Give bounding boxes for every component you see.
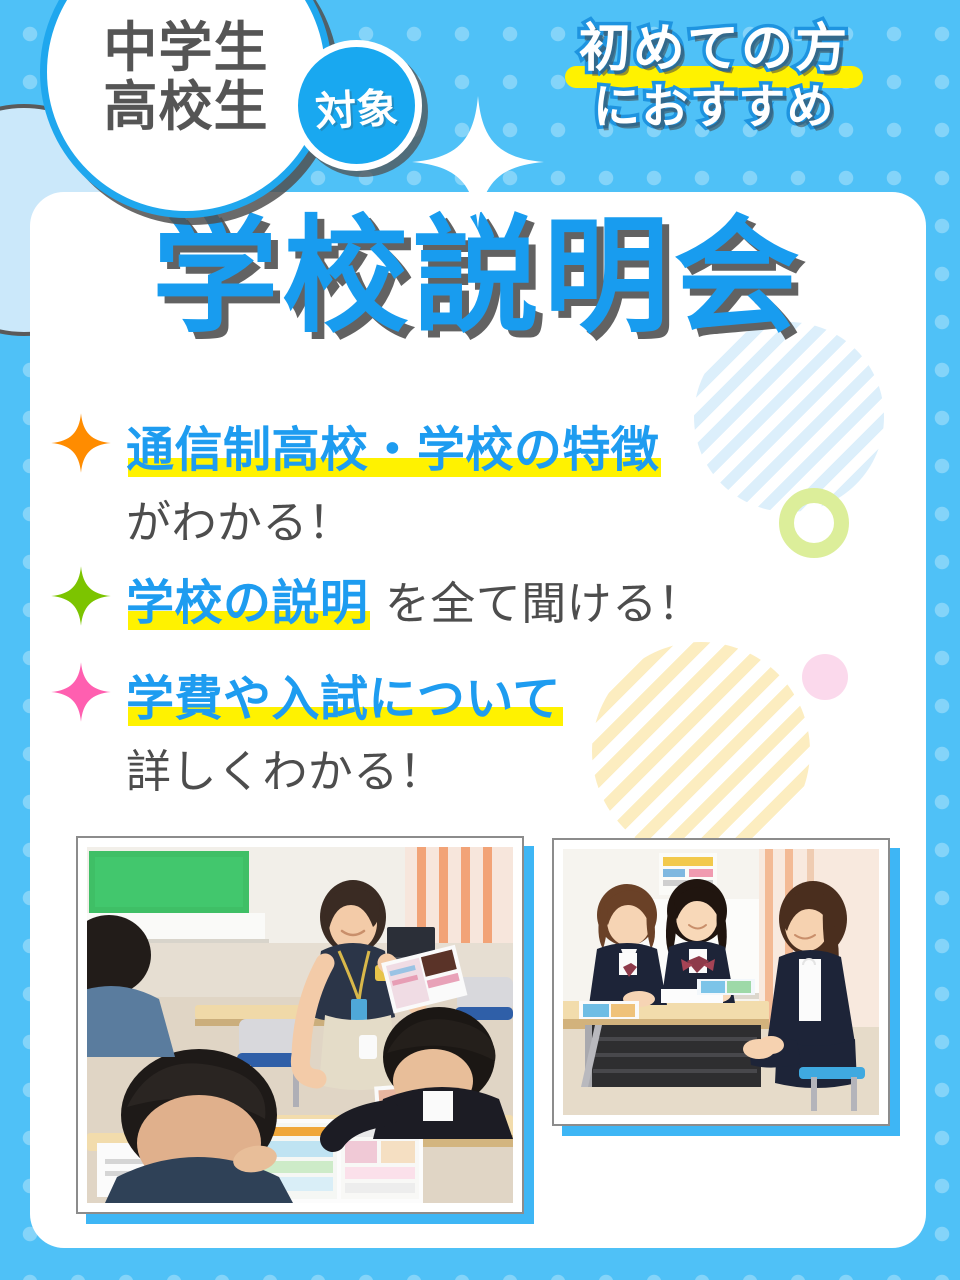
benefit-highlight-wrap-1: 通信制高校・学校の特徴: [126, 410, 659, 480]
four-point-star-icon: [50, 565, 112, 627]
photo-image: [563, 849, 879, 1115]
benefit-highlight-wrap-3: 学費や入試について: [126, 659, 561, 729]
benefit-list: 通信制高校・学校の特徴 がわかる！ 学校の説明 を全て聞ける！: [30, 410, 926, 812]
photo-classroom-consultation: [76, 836, 524, 1214]
benefit-highlight-wrap-2: 学校の説明: [126, 563, 368, 633]
recommend-line1-wrap: 初めての方: [565, 22, 863, 77]
benefit-tail-2: を全て聞ける！: [385, 578, 703, 629]
benefit-highlight-1: 通信制高校・学校の特徴: [126, 424, 659, 477]
photo-students-interview: [552, 838, 890, 1126]
benefit-highlight-2: 学校の説明: [126, 577, 368, 630]
benefit-item-2: 学校の説明 を全て聞ける！: [30, 563, 926, 633]
page-title: 学校説明会: [30, 214, 926, 340]
header-banner: 中学生 高校生 対象 初めての方 におすすめ: [0, 0, 960, 200]
recommend-line1: 初めての方: [579, 22, 849, 77]
recommend-headline: 初めての方 におすすめ: [504, 22, 924, 132]
target-circle-badge: 対象: [291, 40, 422, 171]
benefit-tail-1: がわかる！: [126, 486, 926, 551]
four-point-star-icon: [50, 661, 112, 723]
benefit-item-1: 通信制高校・学校の特徴 がわかる！: [30, 410, 926, 551]
benefit-item-3: 学費や入試について 詳しくわかる！: [30, 659, 926, 800]
benefit-highlight-3: 学費や入試について: [126, 673, 561, 726]
benefit-tail-3: 詳しくわかる！: [126, 735, 926, 800]
main-content-card: 学校説明会 通信制高校・学校の特徴 がわかる！: [30, 192, 926, 1248]
photo-image: [87, 847, 513, 1203]
target-audience-label: 中学生 高校生: [47, 19, 325, 138]
four-point-star-icon: [50, 412, 112, 474]
recommend-line2: におすすめ: [504, 81, 924, 133]
target-chip-label: 対象: [314, 73, 400, 137]
